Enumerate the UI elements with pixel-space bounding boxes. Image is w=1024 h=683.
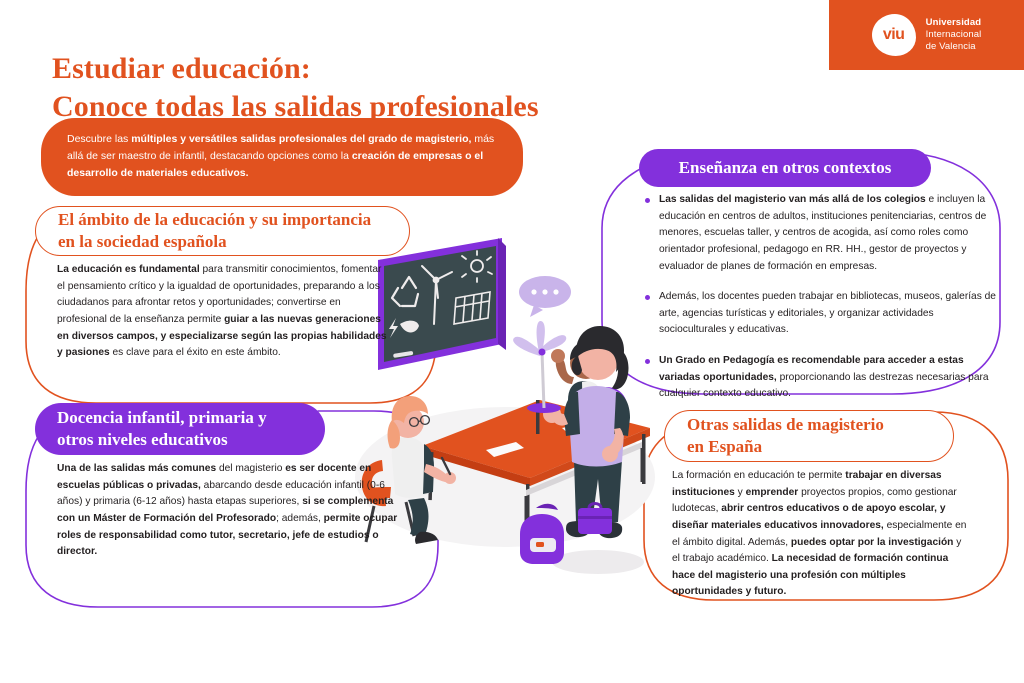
card-body-otras-salidas-espana: La formación en educación te permite tra…	[672, 468, 967, 601]
card-title-otras-line-2: en España	[687, 437, 762, 456]
viu-logo-mark-text: viu	[883, 27, 905, 43]
card-title-otras-salidas-espana: Otras salidas de magisterio en España	[664, 410, 954, 462]
card-body-ambito-educacion: La educación es fundamental para transmi…	[57, 262, 387, 362]
infographic-canvas: viu Universidad Internacional de Valenci…	[0, 0, 1024, 683]
card-title-ambito-line-1: El ámbito de la educación y su importanc…	[58, 210, 371, 229]
viu-logo-line-2: Internacional	[926, 29, 982, 41]
card-title-ensenanza-line-1: Enseñanza en otros contextos	[679, 157, 892, 179]
card-title-ensenanza-otros-contextos: Enseñanza en otros contextos	[639, 149, 931, 187]
viu-logo-mark: viu	[872, 14, 916, 56]
card-title-docencia-line-1: Docencia infantil, primaria y	[57, 408, 267, 427]
viu-logo-line-1: Universidad	[926, 17, 982, 29]
bullet-item: Las salidas del magisterio van más allá …	[645, 192, 1000, 275]
card-title-ambito-educacion: El ámbito de la educación y su importanc…	[35, 206, 410, 256]
card-title-ambito-line-2: en la sociedad española	[58, 232, 227, 251]
card-title-docencia-line-2: otros niveles educativos	[57, 430, 228, 449]
card-bullets-ensenanza-otros-contextos: Las salidas del magisterio van más allá …	[645, 192, 1000, 403]
viu-logo: viu Universidad Internacional de Valenci…	[829, 0, 1024, 70]
speech-bubble-icon	[519, 276, 571, 317]
bullet-item: Además, los docentes pueden trabajar en …	[645, 289, 1000, 339]
card-body-docencia-infantil: Una de las salidas más comunes del magis…	[57, 461, 405, 561]
card-title-docencia-infantil: Docencia infantil, primaria y otros nive…	[35, 403, 325, 455]
page-title-line-1: Estudiar educación:	[52, 52, 311, 85]
viu-logo-wordmark: Universidad Internacional de Valencia	[926, 17, 982, 53]
page-title: Estudiar educación: Conoce todas las sal…	[52, 50, 732, 127]
purple-lunchbox	[578, 504, 612, 535]
blackboard-icon	[378, 238, 506, 370]
viu-logo-line-3: de Valencia	[926, 41, 982, 53]
intro-summary-box: Descubre las múltiples y versátiles sali…	[41, 118, 523, 196]
bullet-item: Un Grado en Pedagogía es recomendable pa…	[645, 353, 1000, 403]
card-title-otras-line-1: Otras salidas de magisterio	[687, 415, 884, 434]
